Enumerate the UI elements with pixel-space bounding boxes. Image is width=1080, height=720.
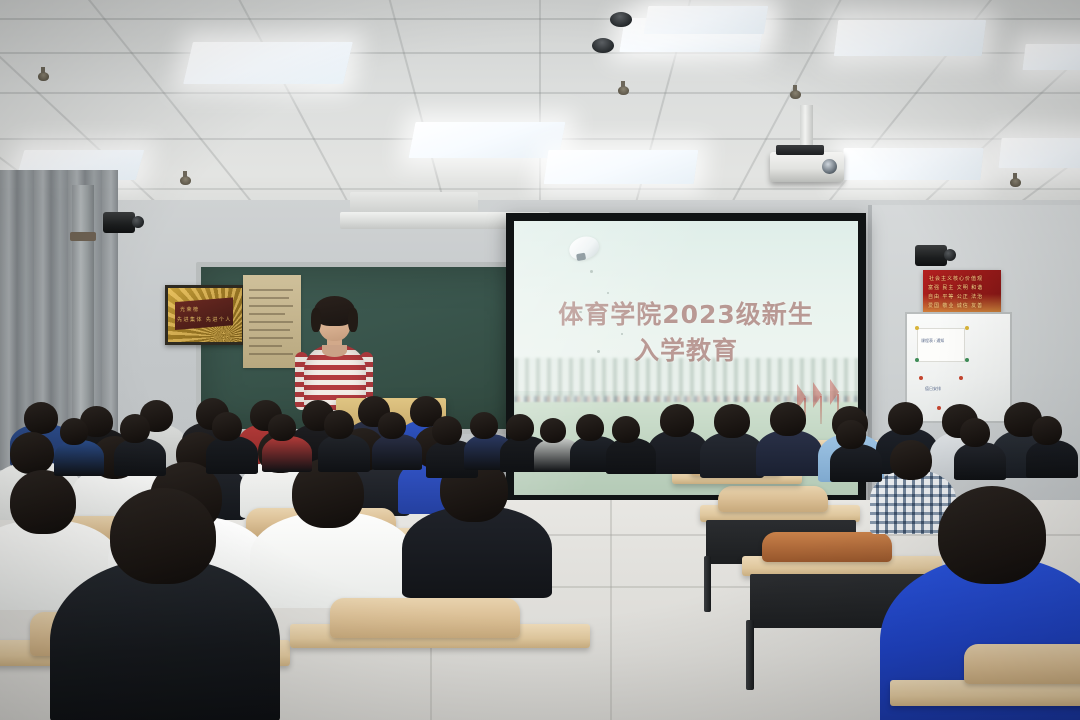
sprinkler-head-icon xyxy=(618,86,629,95)
student-head xyxy=(60,418,88,445)
student-torso xyxy=(372,434,422,470)
student-head xyxy=(268,414,296,441)
ceiling-light-panel xyxy=(834,20,986,56)
ceiling-light-panel xyxy=(840,148,983,180)
student-head xyxy=(212,412,242,441)
slide-title-line1: 体育学院2023级新生 xyxy=(514,295,858,331)
ceiling-projector xyxy=(770,152,844,182)
student-torso xyxy=(206,436,258,474)
chair-back xyxy=(330,598,520,638)
wall-camera-icon xyxy=(915,245,947,266)
framed-honor-plaque: 光荣榜 先进集体 先进个人 xyxy=(165,285,245,345)
whiteboard-sub-text: 值日安排 xyxy=(925,386,941,392)
presenter-hair xyxy=(314,296,355,326)
chair-back xyxy=(718,486,828,512)
student-head xyxy=(506,414,534,441)
student-head xyxy=(890,440,932,480)
smoke-detector-icon xyxy=(592,38,614,53)
student-torso xyxy=(954,442,1006,480)
chair-back xyxy=(964,644,1080,684)
smoke-detector-icon xyxy=(610,12,632,27)
student-torso xyxy=(54,440,104,476)
student-head xyxy=(888,402,923,435)
core-values-banner: 社会主义核心价值观 富强 民主 文明 和谐 自由 平等 公正 法治 爱国 敬业 … xyxy=(923,270,1001,313)
student-torso xyxy=(606,438,656,474)
ceiling-light-panel xyxy=(409,122,566,158)
ceiling-light-panel xyxy=(1022,44,1080,70)
student-head xyxy=(432,416,462,445)
chair-back xyxy=(762,532,892,562)
student-head xyxy=(714,404,750,438)
banner-row-2: 自由 平等 公正 法治 xyxy=(928,293,983,300)
sprinkler-head-icon xyxy=(1010,178,1021,187)
student-head xyxy=(24,402,58,434)
plaque-line2: 先进集体 先进个人 xyxy=(177,316,232,323)
classroom-photo: 光荣榜 先进集体 先进个人 社会主义核心价值观 富强 民主 文明 和谐 自由 平… xyxy=(0,0,1080,720)
air-conditioner-unit xyxy=(350,192,478,212)
pillar-bracket xyxy=(70,232,96,241)
student-head-foreground xyxy=(938,486,1046,584)
student-head xyxy=(120,414,150,443)
student-torso xyxy=(262,436,312,472)
student-torso xyxy=(700,432,764,478)
ceiling-light-panel xyxy=(998,138,1080,168)
whiteboard-note-text: 课程表 / 通知 xyxy=(921,338,944,344)
paper-notice-poster xyxy=(243,275,301,368)
ceiling-light-panel xyxy=(183,42,353,84)
student-torso xyxy=(114,438,166,476)
ceiling-light-panel xyxy=(544,150,699,184)
student-head xyxy=(10,470,76,534)
student-head xyxy=(378,412,406,439)
sprinkler-head-icon xyxy=(180,176,191,185)
banner-row-3: 爱国 敬业 诚信 友善 xyxy=(928,302,983,309)
student-head xyxy=(470,412,498,439)
student-head xyxy=(540,418,566,443)
student-head xyxy=(1032,416,1062,445)
sprinkler-head-icon xyxy=(790,90,801,99)
student-head xyxy=(612,416,640,443)
plaque-line1: 光荣榜 xyxy=(180,306,200,313)
student-head xyxy=(836,420,866,449)
whiteboard-note xyxy=(917,328,965,362)
student-torso xyxy=(830,444,882,482)
ceiling-light-panel xyxy=(644,6,768,34)
student-head xyxy=(576,414,604,441)
sprinkler-head-icon xyxy=(38,72,49,81)
student-head xyxy=(324,410,354,439)
presenter xyxy=(296,300,372,412)
student-head xyxy=(960,418,990,447)
student-head xyxy=(660,404,694,437)
slide-title-line2: 入学教育 xyxy=(514,331,858,367)
banner-row-1: 富强 民主 文明 和谐 xyxy=(928,284,983,291)
banner-row-0: 社会主义核心价值观 xyxy=(929,275,983,282)
wall-speaker-icon xyxy=(103,212,135,233)
student-torso xyxy=(756,430,822,476)
student-head xyxy=(770,402,806,436)
projector-lens-icon xyxy=(822,159,837,174)
student-head-foreground xyxy=(110,488,216,584)
student-torso xyxy=(318,434,370,472)
student-torso xyxy=(1026,440,1078,478)
student-head xyxy=(10,432,54,474)
